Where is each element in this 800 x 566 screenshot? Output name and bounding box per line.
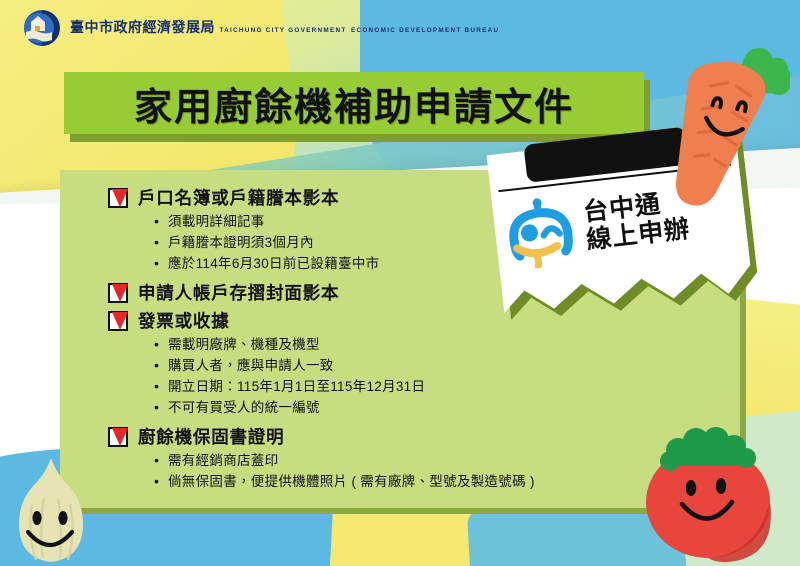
checked-box-icon[interactable]	[108, 427, 128, 447]
requirement-title: 申請人帳戶存摺封面影本	[138, 283, 339, 303]
checked-box-icon[interactable]	[108, 283, 128, 303]
list-item: 需載明廠牌、機種及機型	[154, 335, 720, 356]
taichung-city-emblem-icon	[22, 8, 62, 48]
requirement-title: 廚餘機保固書證明	[138, 427, 284, 447]
smiling-carrot-icon	[655, 38, 790, 213]
list-item: 開立日期：115年1月1日至115年12月31日	[154, 377, 720, 398]
logo-org-name-en-line2: ECONOMIC DEVELOPMENT BUREAU	[351, 27, 499, 34]
list-item: 購買人者，應與申請人一致	[154, 356, 720, 377]
logo-org-name-zh: 臺中市政府經濟發展局	[70, 19, 215, 35]
smiling-garlic-icon	[0, 452, 110, 566]
title-banner: 家用廚餘機補助申請文件	[64, 72, 644, 134]
logo-org-name-en-line1: TAICHUNG CITY GOVERNMENT	[219, 27, 346, 34]
requirement-bullet-list: 需載明廠牌、機種及機型 購買人者，應與申請人一致 開立日期：115年1月1日至1…	[154, 335, 720, 419]
requirement-title: 發票或收據	[138, 311, 230, 331]
taichung-pass-robot-icon	[500, 192, 582, 272]
list-item: 不可有買受人的統一編號	[154, 398, 720, 419]
checked-box-icon[interactable]	[108, 188, 128, 208]
smiling-tomato-icon	[628, 424, 788, 566]
logo-text-block: 臺中市政府經濟發展局 TAICHUNG CITY GOVERNMENT ECON…	[70, 20, 499, 37]
page-title: 家用廚餘機補助申請文件	[134, 76, 574, 131]
poster-canvas: 臺中市政府經濟發展局 TAICHUNG CITY GOVERNMENT ECON…	[0, 0, 800, 566]
checked-box-icon[interactable]	[108, 311, 128, 331]
organization-logo: 臺中市政府經濟發展局 TAICHUNG CITY GOVERNMENT ECON…	[22, 8, 499, 48]
requirement-section: 發票或收據 需載明廠牌、機種及機型 購買人者，應與申請人一致 開立日期：115年…	[108, 311, 720, 419]
requirement-title: 戶口名簿或戶籍謄本影本	[138, 188, 339, 208]
